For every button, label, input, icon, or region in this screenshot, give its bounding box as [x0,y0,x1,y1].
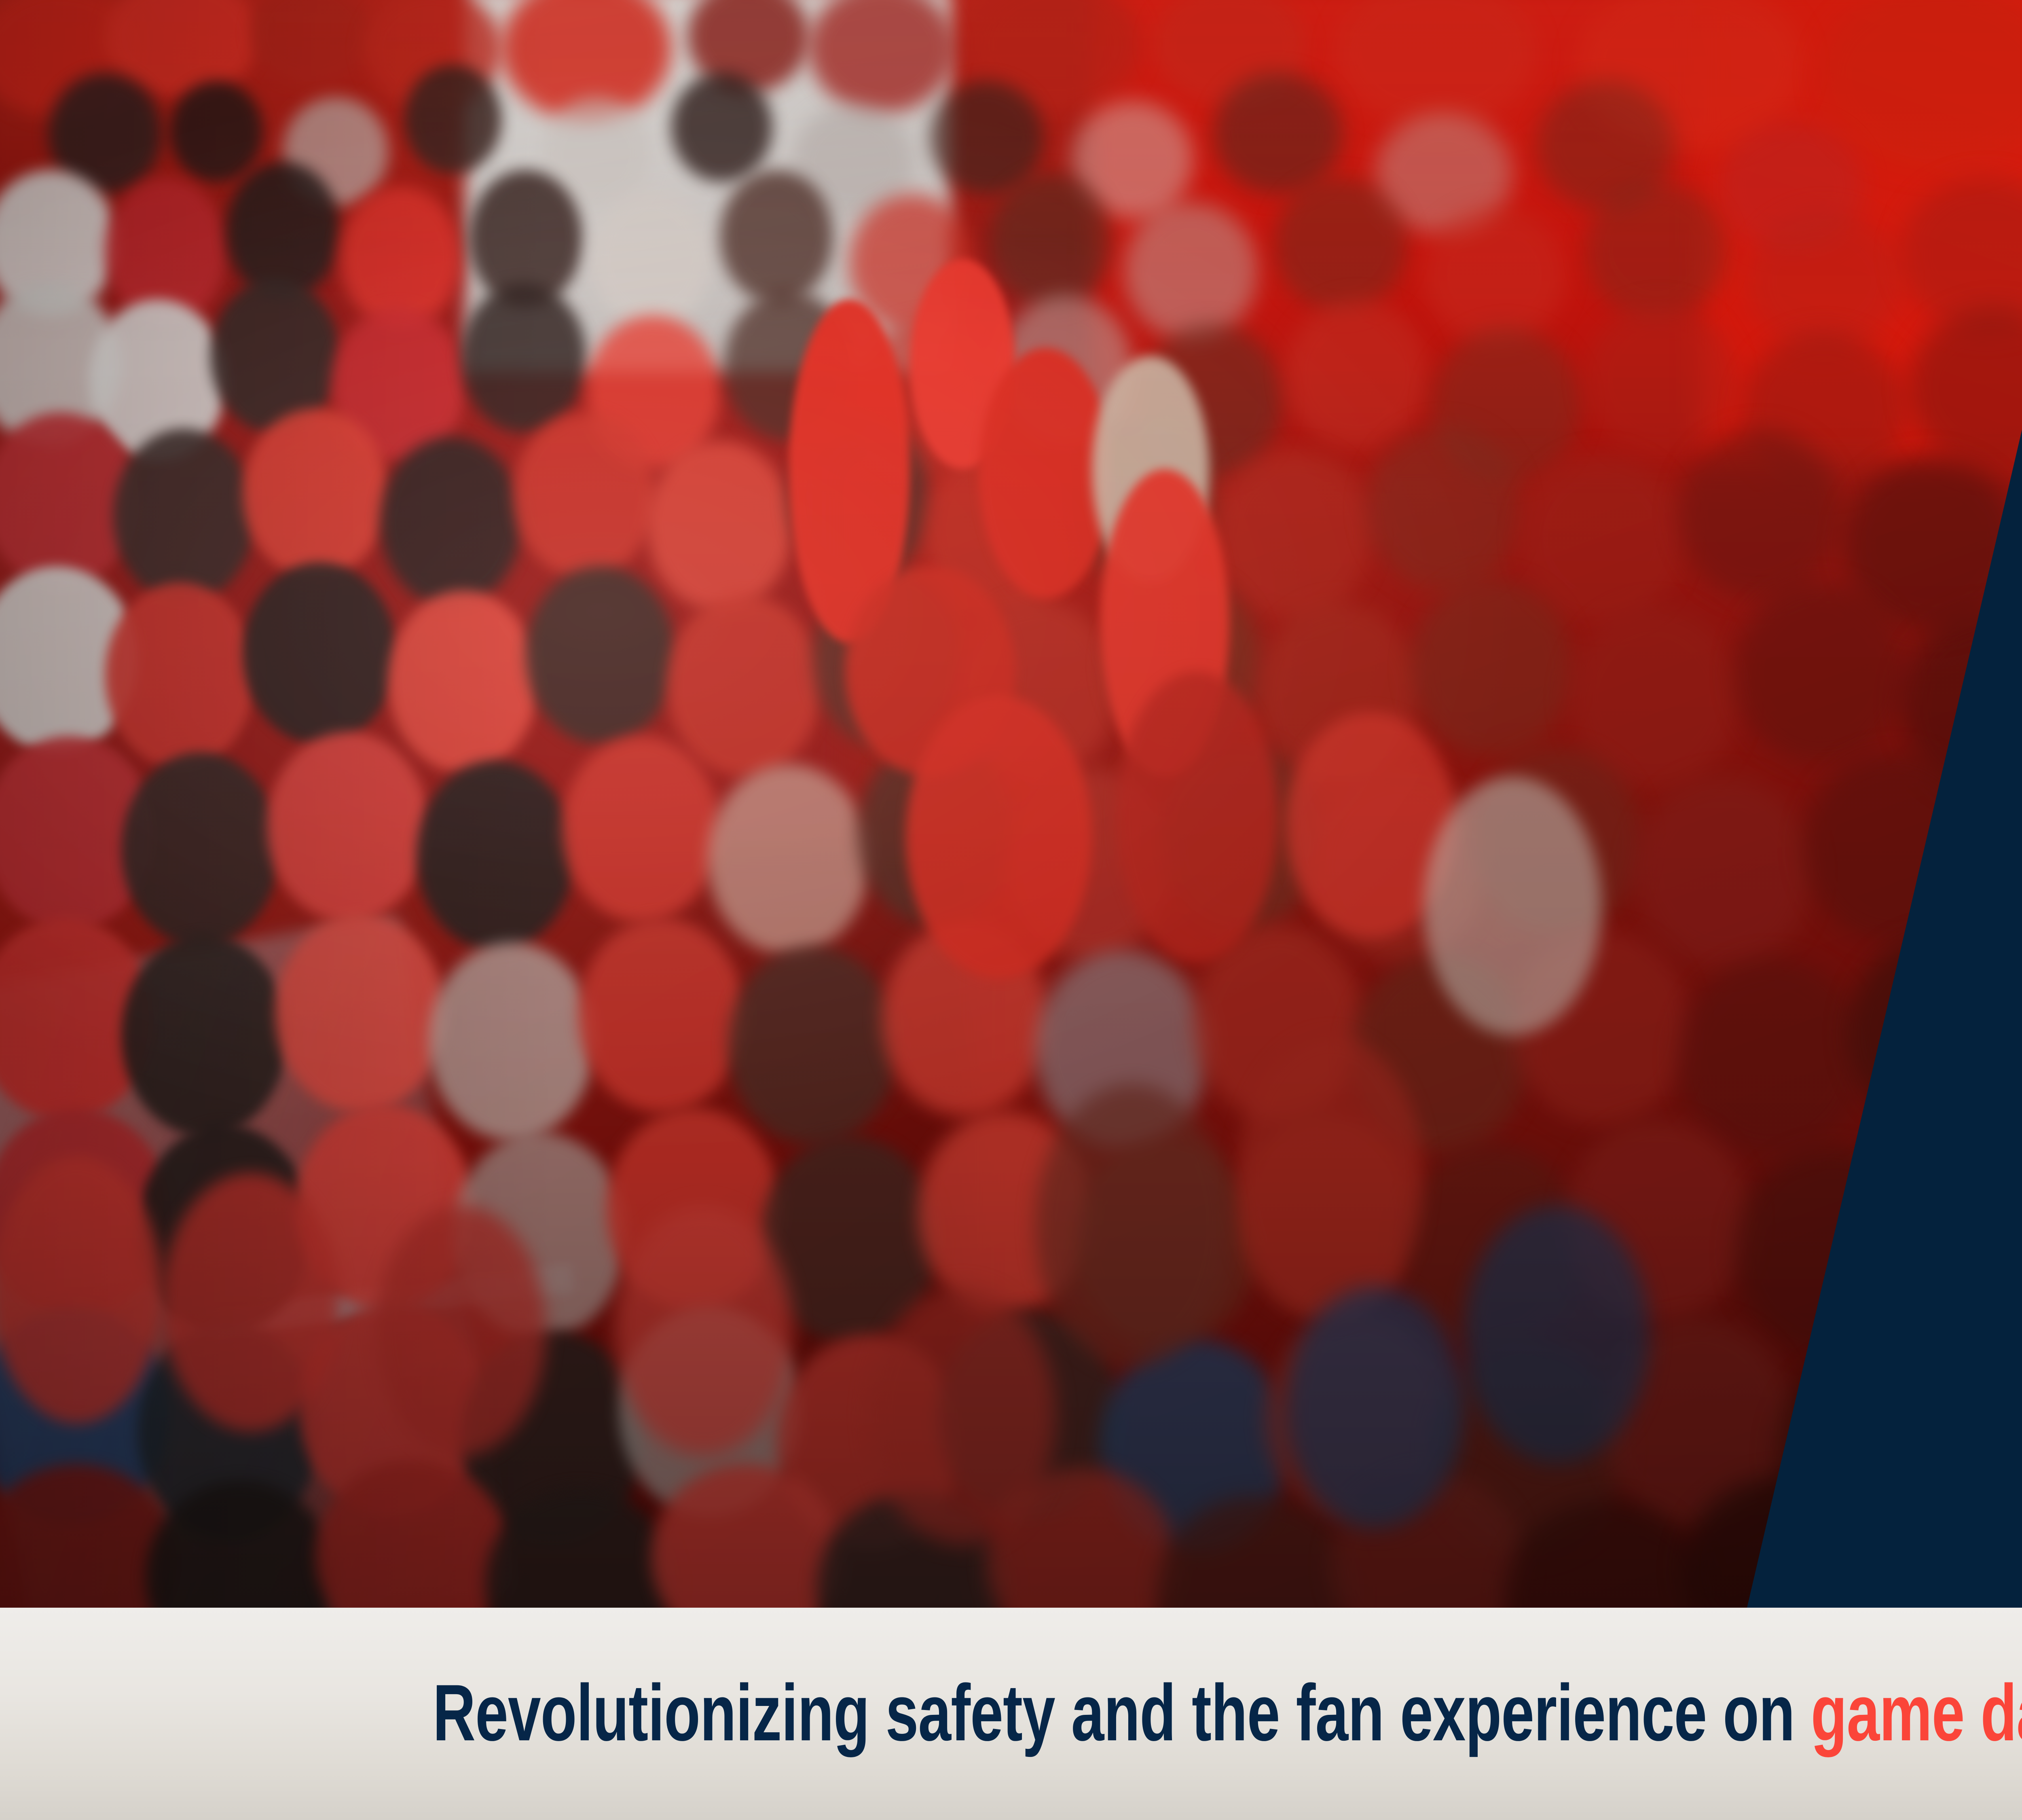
crowd-figure [514,413,655,578]
crowd-figure [267,732,429,922]
crowd-figure [1634,777,1812,967]
crowd-figure [930,81,1043,194]
crowd-figure [243,562,396,744]
crowd-figure [1367,425,1521,590]
crowd-figure [121,934,287,1136]
crowd-figure [906,696,1092,979]
caption-bar: Revolutionizing safety and the fan exper… [0,1608,2022,1820]
crowd-figure [1735,582,1905,764]
crowd-figure [590,190,712,328]
crowd-figure [417,760,574,950]
crowd-figure [1213,73,1343,194]
crowd-figure [226,162,340,299]
crowd-figure [113,429,255,603]
crowd-figure [1678,959,1864,1157]
crowd-figure [162,1173,340,1432]
crowd-figure [170,81,263,182]
crowd-figure [1237,1035,1423,1318]
crowd-figure [1124,202,1258,340]
caption-part-1: Revolutionizing safety and the fan exper… [433,1668,1811,1757]
crowd-figure [429,942,594,1141]
crowd-figure [720,170,833,303]
crowd-figure [1747,210,1901,352]
crowd-figure [1035,1084,1229,1367]
crowd-figure [728,946,898,1145]
crowd-figure [121,752,279,946]
crowd-figure [1423,206,1565,344]
crowd-figure [105,582,255,768]
crowd-figure [243,408,388,578]
crowd-photo-canvas [0,0,2022,1608]
crowd-figure [340,186,461,328]
crowd-figure [1217,449,1371,619]
caption-highlight: game day [1811,1668,2022,1757]
caption-text: Revolutionizing safety and the fan exper… [433,1673,2022,1755]
crowd-figure [708,764,869,954]
crowd-figure [1286,1286,1464,1529]
crowd-figure [526,566,675,744]
crowd-figure [388,590,538,772]
crowd-figure [1423,777,1601,1035]
crowd-figure [1521,453,1682,623]
fan-id-case-study-banner: incode REIMAGINE TRUST HOW FAN ID TRANSF… [0,0,2022,1820]
crowd-figure [615,1205,793,1456]
crowd-figure [671,73,772,182]
crowd-figure [562,736,720,922]
crowd-figure [1585,303,1735,457]
crowd-figure [376,1205,546,1456]
crowd-figure [1585,182,1727,320]
crowd-figure [667,595,821,777]
crowd-figure [647,441,793,611]
crowd-figure [1274,178,1407,311]
crowd-figure [578,918,744,1112]
crowd-figure [1678,429,1840,599]
crowd-figure [869,1286,1055,1545]
crowd-figure [380,437,522,607]
stadium-crowd-photo [0,0,2022,1608]
crowd-figure [404,65,501,174]
crowd-figure [461,283,586,433]
crowd-figure [1464,1205,1650,1464]
crowd-figure [991,174,1112,307]
crowd-figure [1411,578,1573,756]
crowd-figure [275,914,445,1112]
crowd-figure [1116,671,1278,963]
crowd-figure [1286,299,1428,449]
